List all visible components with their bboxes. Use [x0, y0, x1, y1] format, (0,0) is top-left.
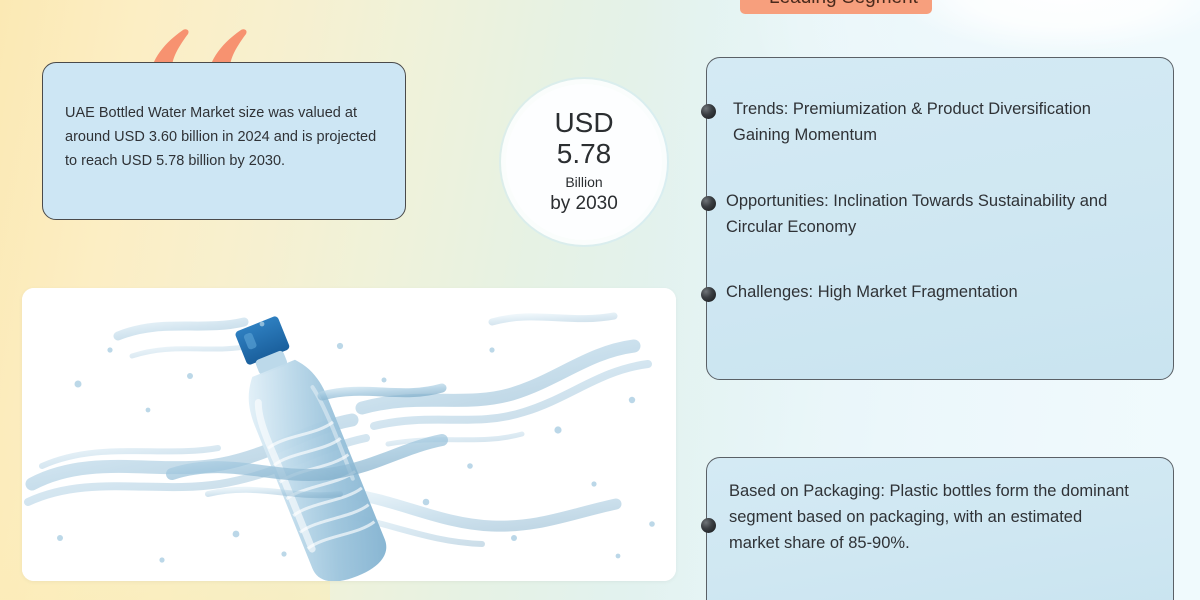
key-highlight-bullet-challenges: Challenges: High Market Fragmentation [726, 279, 1146, 305]
infographic-canvas: UAE Bottled Water Market (2025-2030) UAE… [0, 0, 1200, 600]
summary-card: UAE Bottled Water Market size was valued… [42, 62, 406, 220]
key-highlight-bullet-opportunities: Opportunities: Inclination Towards Susta… [726, 188, 1146, 240]
bullet-dot-icon [701, 518, 716, 533]
value-number: 5.78 [557, 138, 612, 170]
key-highlight-bullet-trends: Trends: Premiumization & Product Diversi… [733, 96, 1133, 148]
value-currency: USD [554, 108, 613, 138]
leading-segment-bullet-packaging: Based on Packaging: Plastic bottles form… [729, 478, 1129, 556]
value-circle: USD 5.78 Billion by 2030 [506, 84, 662, 240]
bullet-dot-icon [701, 104, 716, 119]
bullet-dot-icon [701, 287, 716, 302]
background-top-glow [900, 0, 1200, 50]
summary-text: UAE Bottled Water Market size was valued… [65, 101, 385, 173]
water-bottle-splash-image [22, 288, 676, 581]
bullet-dot-icon [701, 196, 716, 211]
value-year: by 2030 [550, 192, 618, 216]
leading-segment-title: Leading Segment [755, 0, 932, 14]
value-unit: Billion [565, 172, 602, 192]
